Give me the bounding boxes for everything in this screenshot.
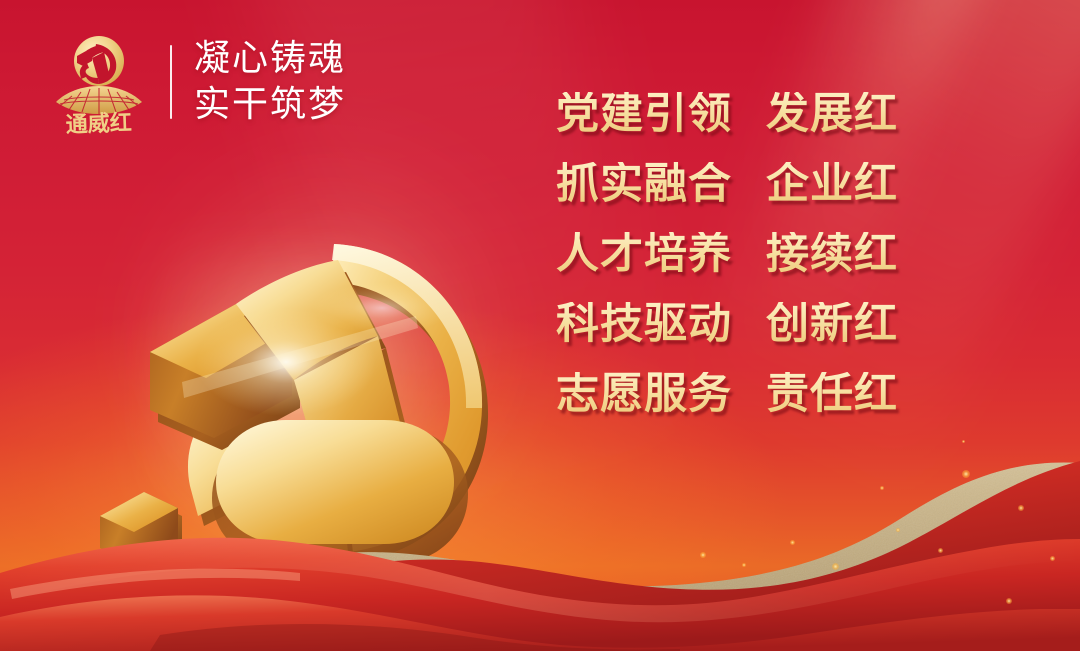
- slogan-row: 志愿服务 责任红: [556, 372, 898, 418]
- header-slogan-line-2: 实干筑梦: [194, 83, 346, 127]
- slogan-list: 党建引领 发展红 抓实融合 企业红 人才培养 接续红 科技驱动 创新红 志愿服务…: [556, 92, 898, 418]
- slogan-right: 企业红: [766, 162, 898, 208]
- slogan-row: 党建引领 发展红: [556, 92, 898, 138]
- hammer-and-sickle-3d-icon: [86, 186, 506, 586]
- slogan-row: 人才培养 接续红: [556, 232, 898, 278]
- slogan-left: 党建引领: [556, 92, 732, 138]
- slogan-right: 发展红: [766, 92, 898, 138]
- poster-canvas: 通威红 凝心铸魂 实干筑梦 党建引领 发展红 抓实融合 企业红 人才培养 接续红: [0, 0, 1080, 651]
- slogan-right: 创新红: [766, 302, 898, 348]
- party-emblem-logo: 通威红: [52, 30, 146, 134]
- header-slogan-line-1: 凝心铸魂: [194, 37, 346, 81]
- slogan-row: 抓实融合 企业红: [556, 162, 898, 208]
- slogan-right: 责任红: [766, 372, 898, 418]
- slogan-left: 科技驱动: [556, 302, 732, 348]
- slogan-left: 人才培养: [556, 232, 732, 278]
- slogan-left: 抓实融合: [556, 162, 732, 208]
- slogan-row: 科技驱动 创新红: [556, 302, 898, 348]
- logo-script-text: 通威红: [65, 110, 132, 134]
- header-slogan: 凝心铸魂 实干筑梦: [194, 37, 346, 127]
- header: 通威红 凝心铸魂 实干筑梦: [52, 30, 346, 134]
- header-divider: [170, 45, 172, 119]
- slogan-left: 志愿服务: [556, 372, 732, 418]
- slogan-right: 接续红: [766, 232, 898, 278]
- svg-text:通威红: 通威红: [65, 110, 132, 134]
